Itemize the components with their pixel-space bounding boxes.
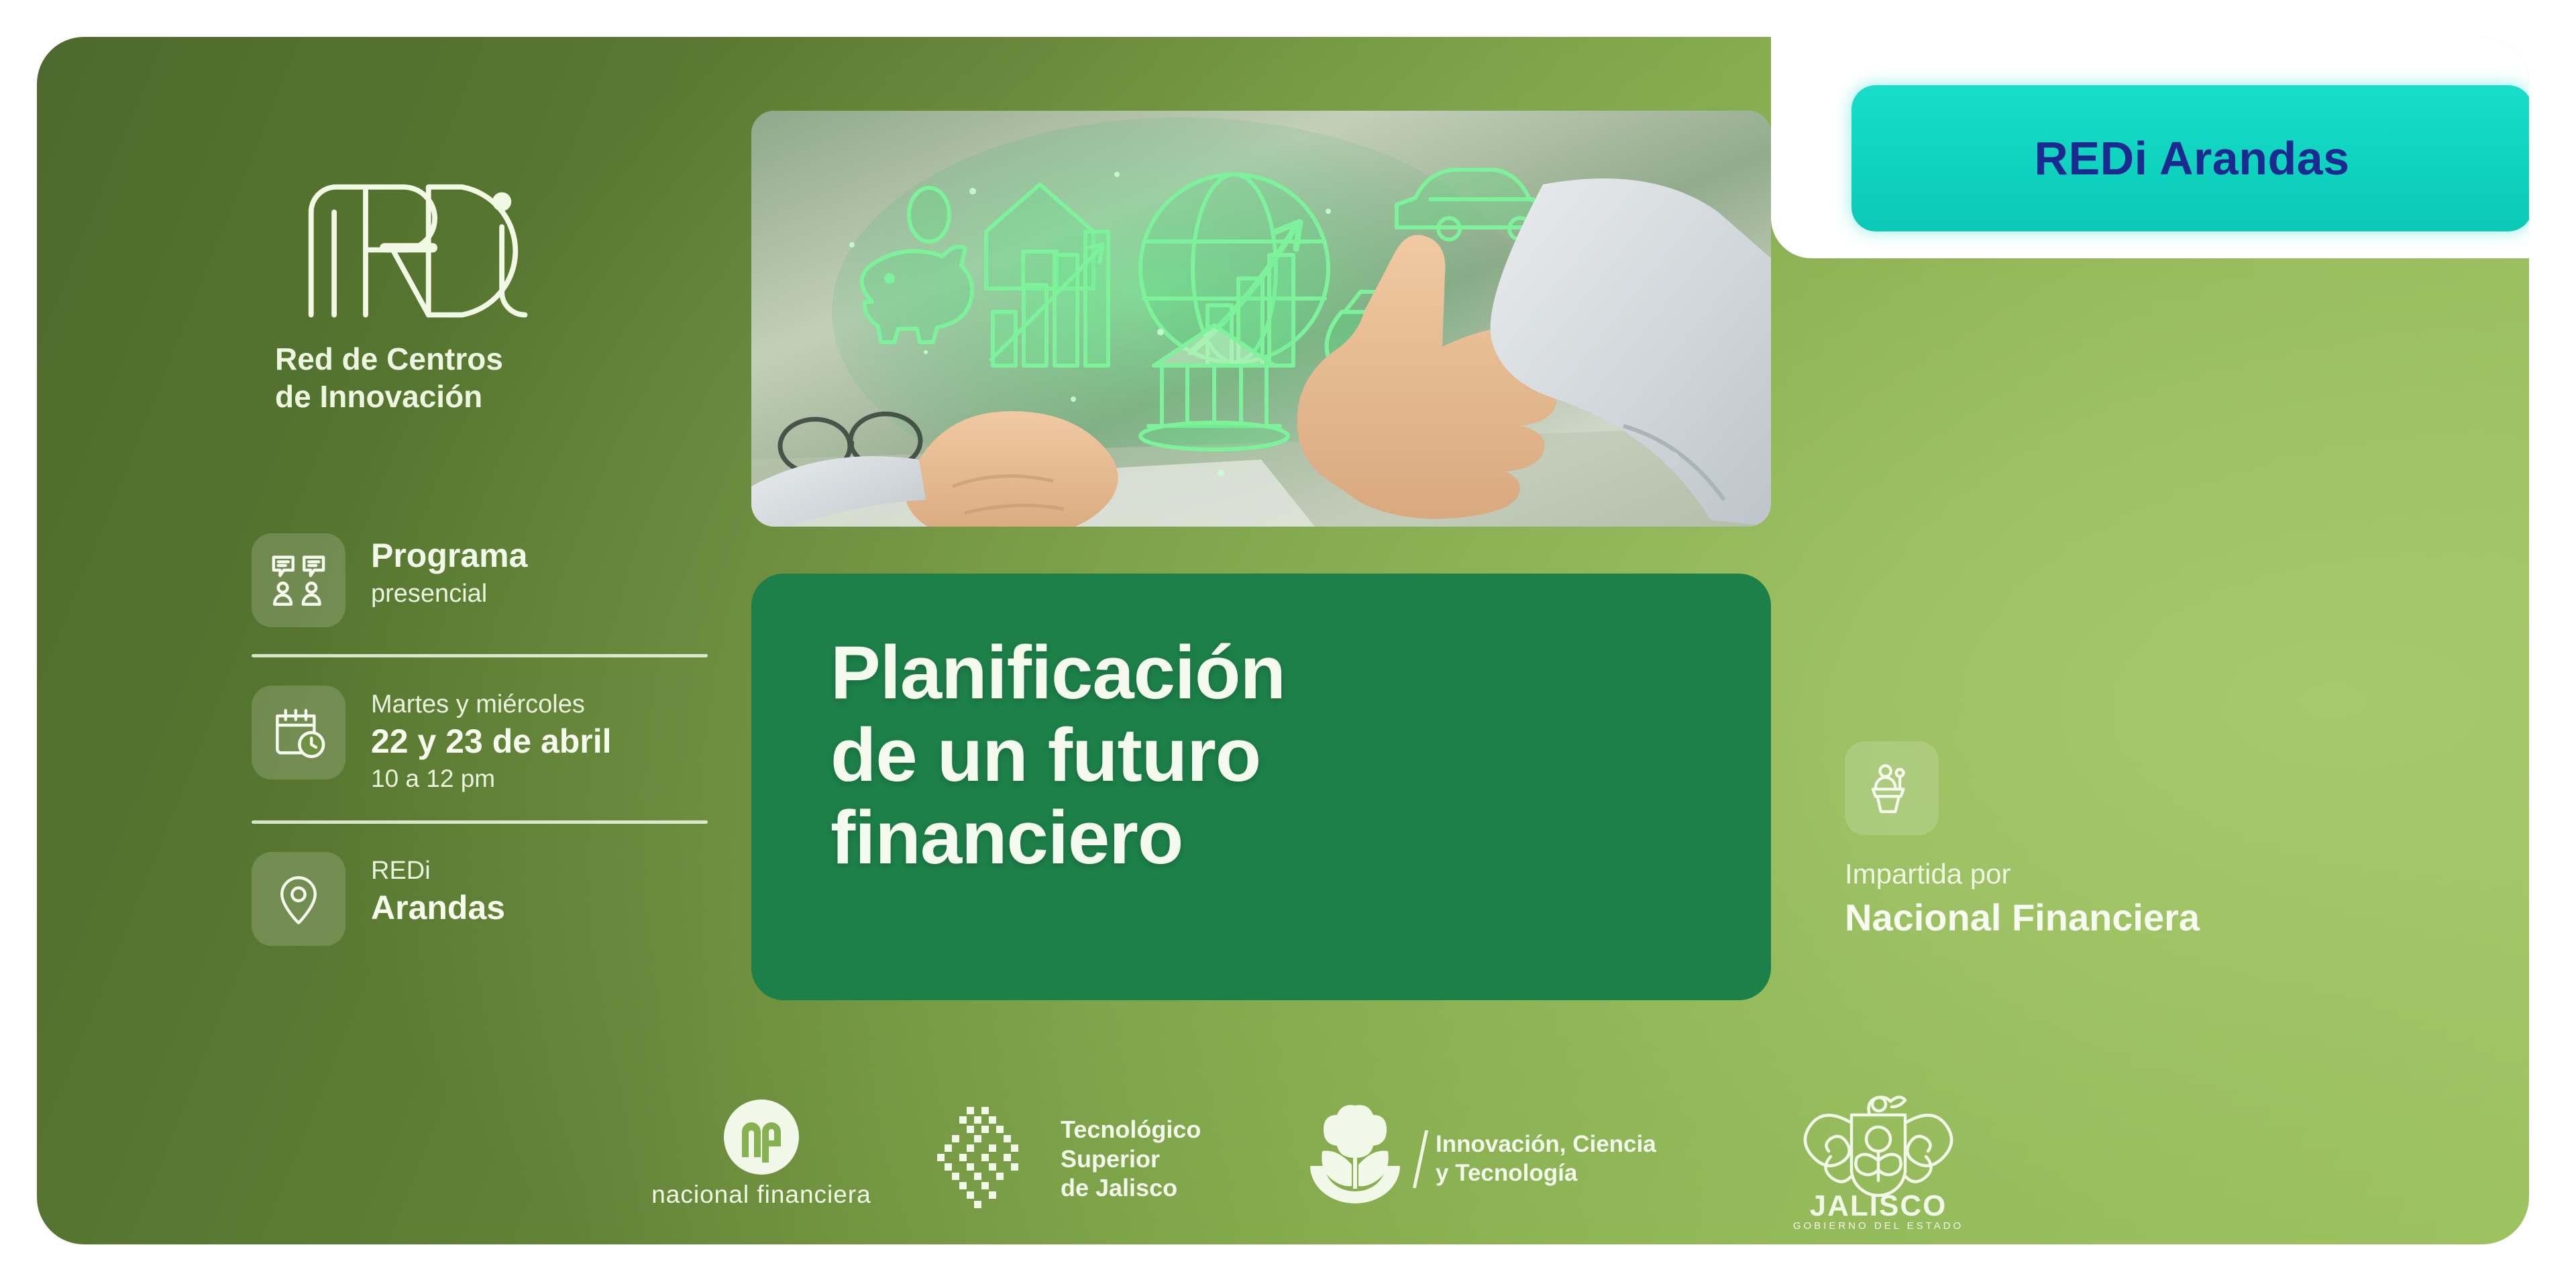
sponsor-innovacion-ciencia-tecnologia: Innovación, Ciencia y Tecnología xyxy=(1305,1073,1721,1244)
sponsor-nacional-financiera: nacional financiera xyxy=(594,1073,929,1244)
detail-date: 22 y 23 de abril xyxy=(371,722,612,761)
svg-text:JALISCO: JALISCO xyxy=(1810,1189,1947,1222)
detail-row-lugar: REDi Arandas xyxy=(252,852,721,946)
innovacion-ciencia-tecnologia-logo-icon xyxy=(1305,1100,1405,1218)
event-details-list: Programa presencial Martes y miércoles 2… xyxy=(252,533,721,946)
icyt-wordmark: Innovación, Ciencia y Tecnología xyxy=(1436,1130,1656,1187)
detail-divider-1 xyxy=(252,654,708,657)
icyt-line-1: Innovación, Ciencia xyxy=(1436,1130,1656,1159)
hero-image-graphic xyxy=(751,111,1771,527)
tecsj-line-2: Superior xyxy=(1061,1144,1201,1174)
podium-speaker-icon xyxy=(1845,741,1939,835)
detail-venue-label: REDi xyxy=(371,856,505,887)
nacional-financiera-logo-icon: nacional financiera xyxy=(651,1095,872,1223)
redi-logo-dot xyxy=(492,193,511,211)
brand-tagline: Red de Centros de Innovación xyxy=(275,340,651,415)
detail-weekdays: Martes y miércoles xyxy=(371,690,612,720)
brand-block: Red de Centros de Innovación xyxy=(275,158,651,415)
tecsj-wordmark: Tecnológico Superior de Jalisco xyxy=(1061,1115,1201,1203)
detail-title: Programa xyxy=(371,537,527,574)
detail-venue-name: Arandas xyxy=(371,888,505,928)
detail-divider-2 xyxy=(252,820,708,824)
tecsj-line-1: Tecnológico xyxy=(1061,1115,1201,1144)
location-pin-icon xyxy=(252,852,345,946)
course-title: Planificación de un futuro financiero xyxy=(830,631,1771,879)
detail-time: 10 a 12 pm xyxy=(371,764,612,794)
detail-row-programa: Programa presencial xyxy=(252,533,721,627)
icyt-line-2: y Tecnología xyxy=(1436,1159,1656,1188)
speech-people-icon xyxy=(252,533,345,627)
tecnologico-superior-jalisco-logo-icon xyxy=(929,1099,1043,1220)
sponsor-tecnologico-superior-de-jalisco: Tecnológico Superior de Jalisco xyxy=(929,1073,1305,1244)
sponsor-logo-strip: nacional financiera xyxy=(594,1073,2063,1244)
presenter-block: Impartida por Nacional Financiera xyxy=(1845,741,2381,939)
course-title-card: Planificación de un futuro financiero xyxy=(751,574,1771,1000)
detail-row-fecha: Martes y miércoles 22 y 23 de abril 10 a… xyxy=(252,686,721,794)
tecsj-line-3: de Jalisco xyxy=(1061,1173,1201,1203)
detail-subtitle: presencial xyxy=(371,578,527,610)
sponsor-jalisco-gobierno: JALISCO GOBIERNO DEL ESTADO xyxy=(1721,1073,2036,1244)
calendar-clock-icon xyxy=(252,686,345,780)
event-poster-card: REDi Arandas Red de Centros de Innovació… xyxy=(37,37,2529,1244)
svg-text:GOBIERNO DEL ESTADO: GOBIERNO DEL ESTADO xyxy=(1793,1220,1964,1231)
presenter-label: Impartida por xyxy=(1845,858,2381,890)
venue-badge[interactable]: REDi Arandas xyxy=(1851,85,2529,231)
jalisco-gobierno-logo-icon: JALISCO GOBIERNO DEL ESTADO xyxy=(1768,1087,1989,1231)
venue-badge-label: REDi Arandas xyxy=(2034,131,2349,185)
hero-image xyxy=(751,111,1771,527)
svg-text:nacional financiera: nacional financiera xyxy=(651,1181,871,1208)
icyt-separator xyxy=(1413,1130,1428,1188)
redi-logo-icon xyxy=(275,158,590,325)
presenter-name: Nacional Financiera xyxy=(1845,896,2381,939)
